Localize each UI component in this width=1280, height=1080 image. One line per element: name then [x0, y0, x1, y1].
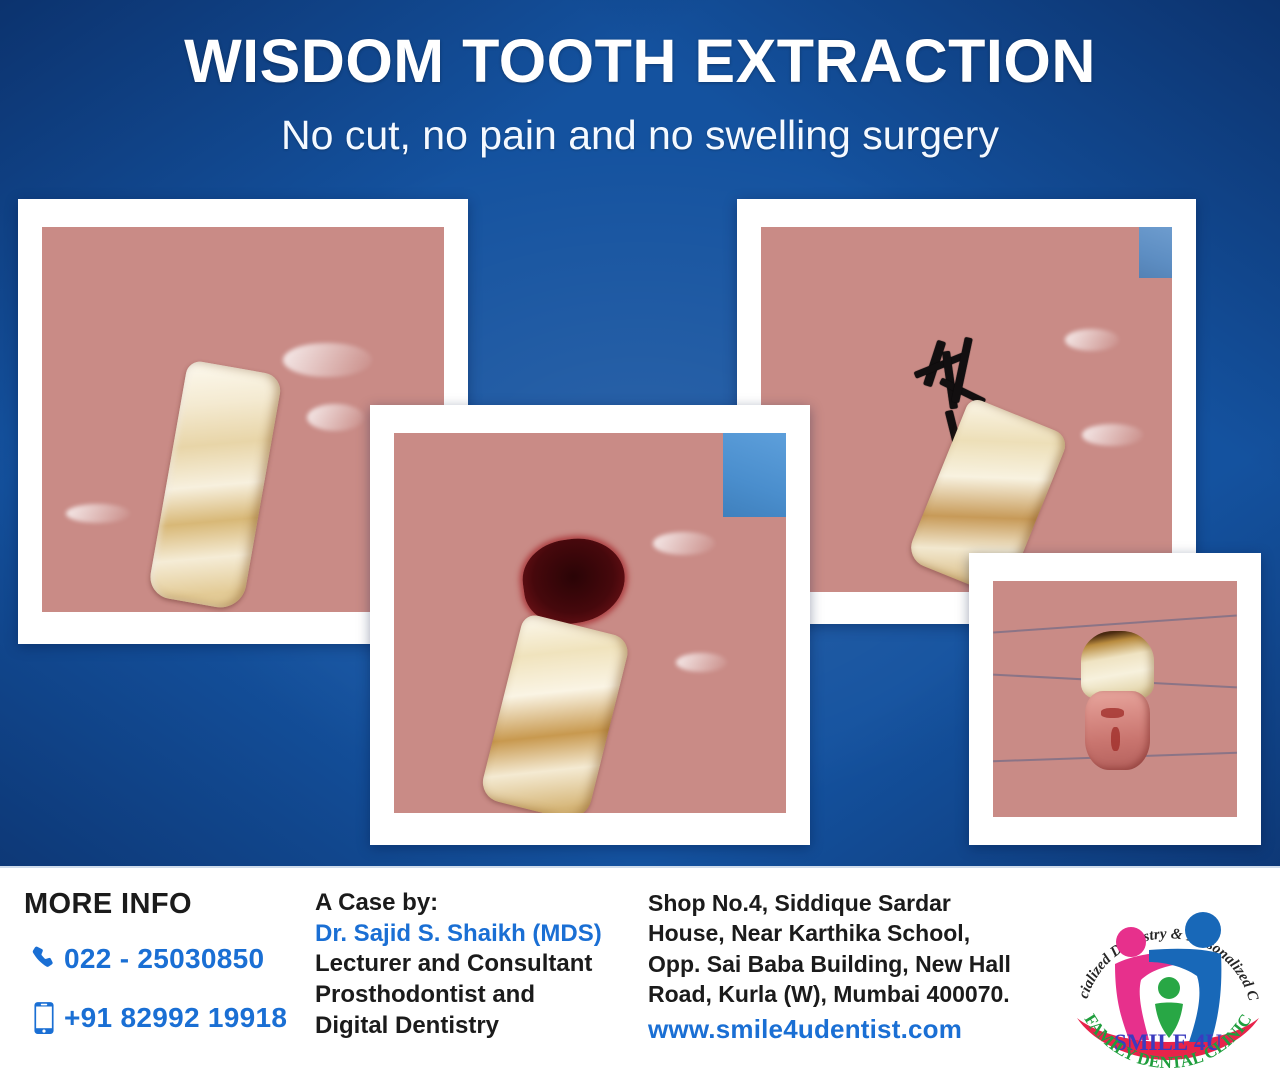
doctor-name: Dr. Sajid S. Shaikh (MDS)	[315, 919, 635, 950]
page-title: WISDOM TOOTH EXTRACTION	[0, 26, 1280, 96]
address-line-2: House, Near Karthika School,	[648, 918, 1058, 948]
mobile-number: +91 82992 19918	[64, 1002, 287, 1034]
credential-line-3: Digital Dentistry	[315, 1011, 635, 1042]
more-info-column: MORE INFO 022 - 25030850	[24, 888, 309, 1061]
photo-frame-extracted-tooth	[969, 553, 1261, 845]
saliva-gloss	[283, 343, 371, 378]
surgical-drape-corner	[1139, 227, 1172, 278]
empty-socket	[518, 533, 631, 630]
saliva-gloss	[653, 532, 716, 555]
blood-streak	[1101, 708, 1124, 718]
blood-streak	[1111, 727, 1120, 751]
suture-stitch	[945, 409, 964, 453]
sutured-site-photo	[761, 227, 1172, 592]
extracted-tooth	[1081, 631, 1154, 768]
credential-line-1: Lecturer and Consultant	[315, 949, 635, 980]
saliva-gloss	[307, 404, 363, 431]
address-column: Shop No.4, Siddique Sardar House, Near K…	[648, 888, 1058, 1045]
more-info-heading: MORE INFO	[24, 888, 309, 921]
case-author-column: A Case by: Dr. Sajid S. Shaikh (MDS) Lec…	[315, 888, 635, 1042]
extracted-tooth-photo	[993, 581, 1237, 817]
telephone-handset-icon	[24, 944, 64, 974]
clinic-logo: Specialized Dentistry & Personalized Car…	[1063, 872, 1273, 1077]
credential-line-2: Prosthodontist and	[315, 980, 635, 1011]
case-by-label: A Case by:	[315, 888, 635, 919]
photo-frame-extraction-socket	[370, 405, 810, 845]
poster-canvas: WISDOM TOOTH EXTRACTION No cut, no pain …	[0, 0, 1280, 1080]
tooth-root	[1085, 691, 1149, 770]
footer-bar: MORE INFO 022 - 25030850	[0, 866, 1280, 1080]
address-line-1: Shop No.4, Siddique Sardar	[648, 888, 1058, 918]
logo-figure-blue-head	[1185, 912, 1221, 948]
saliva-gloss	[1082, 424, 1144, 446]
landline-number: 022 - 25030850	[64, 943, 264, 975]
footer-divider	[0, 866, 1280, 868]
website-link[interactable]: www.smile4udentist.com	[648, 1014, 1058, 1045]
mobile-row[interactable]: +91 82992 19918	[24, 1001, 309, 1035]
page-subtitle: No cut, no pain and no swelling surgery	[0, 112, 1280, 159]
landline-row[interactable]: 022 - 25030850	[24, 943, 309, 975]
surgical-drape-corner	[723, 433, 786, 517]
saliva-gloss	[1065, 329, 1118, 351]
smile-4u-logo-graphic: Specialized Dentistry & Personalized Car…	[1063, 872, 1273, 1077]
mobile-phone-icon	[24, 1001, 64, 1035]
address-line-4: Road, Kurla (W), Mumbai 400070.	[648, 979, 1058, 1009]
logo-figure-green-head	[1158, 977, 1180, 999]
extraction-socket-photo	[394, 433, 786, 813]
tooth-crown	[1081, 631, 1154, 699]
tongue-gloss	[66, 504, 130, 523]
saliva-gloss	[676, 653, 727, 672]
logo-figure-pink-head	[1116, 927, 1146, 957]
address-line-3: Opp. Sai Baba Building, New Hall	[648, 949, 1058, 979]
